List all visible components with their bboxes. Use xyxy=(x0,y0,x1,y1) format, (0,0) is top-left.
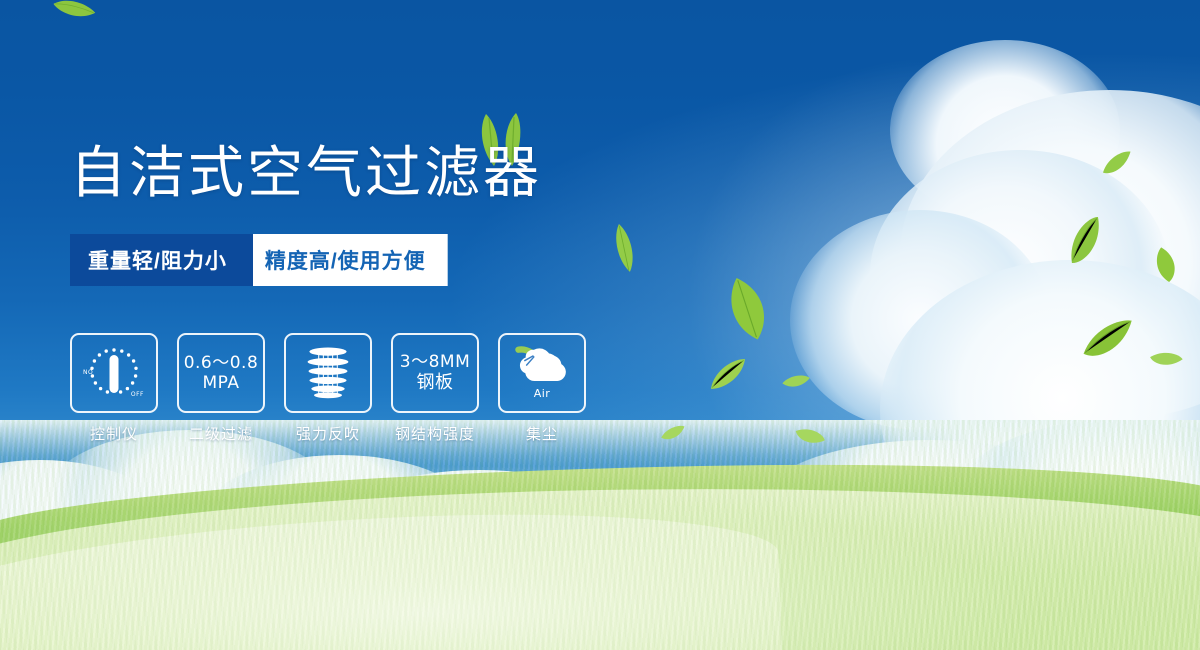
feature-label: 强力反吹 xyxy=(296,423,360,444)
feature-item-pressure[interactable]: 0.6～0.8 MPA 二级过滤 xyxy=(177,333,265,444)
feature-label: 集尘 xyxy=(526,423,558,444)
feature-icon-box: 0.6～0.8 MPA xyxy=(177,333,265,413)
feature-list: NO OFF 控制仪 0.6～0.8 MPA 二级过滤 xyxy=(70,333,586,444)
control-dial-icon: NO OFF xyxy=(84,344,144,402)
subtitle-right: 精度高/使用方便 xyxy=(235,234,448,286)
feature-item-control[interactable]: NO OFF 控制仪 xyxy=(70,333,158,444)
feature-icon-box: NO OFF xyxy=(70,333,158,413)
subtitle-bar: 重量轻/阻力小 精度高/使用方便 xyxy=(70,234,448,286)
feature-icon-box xyxy=(284,333,372,413)
feature-label: 钢结构强度 xyxy=(395,423,475,444)
feature-label: 二级过滤 xyxy=(189,423,253,444)
air-label: Air xyxy=(534,387,551,400)
cloud-air-icon xyxy=(513,346,571,386)
steel-value-line1: 3～8MM xyxy=(400,352,470,372)
feature-label: 控制仪 xyxy=(90,423,138,444)
steel-value-line2: 钢板 xyxy=(417,372,454,393)
pressure-value-line1: 0.6～0.8 xyxy=(184,353,259,373)
filter-stack-icon xyxy=(302,344,354,402)
page-title: 自洁式空气过滤器 xyxy=(70,146,542,202)
product-banner: 自洁式空气过滤器 重量轻/阻力小 精度高/使用方便 xyxy=(0,0,1200,650)
dial-no-label: NO xyxy=(83,369,93,376)
subtitle-left: 重量轻/阻力小 xyxy=(70,234,253,286)
feature-icon-box: 3～8MM 钢板 xyxy=(391,333,479,413)
feature-item-blowback[interactable]: 强力反吹 xyxy=(284,333,372,444)
banner-content: 自洁式空气过滤器 重量轻/阻力小 精度高/使用方便 xyxy=(0,0,1200,650)
feature-item-steel[interactable]: 3～8MM 钢板 钢结构强度 xyxy=(391,333,479,444)
dial-off-label: OFF xyxy=(131,391,144,398)
feature-item-dust[interactable]: Air 集尘 xyxy=(498,333,586,444)
pressure-value-line2: MPA xyxy=(203,373,240,393)
feature-icon-box: Air xyxy=(498,333,586,413)
